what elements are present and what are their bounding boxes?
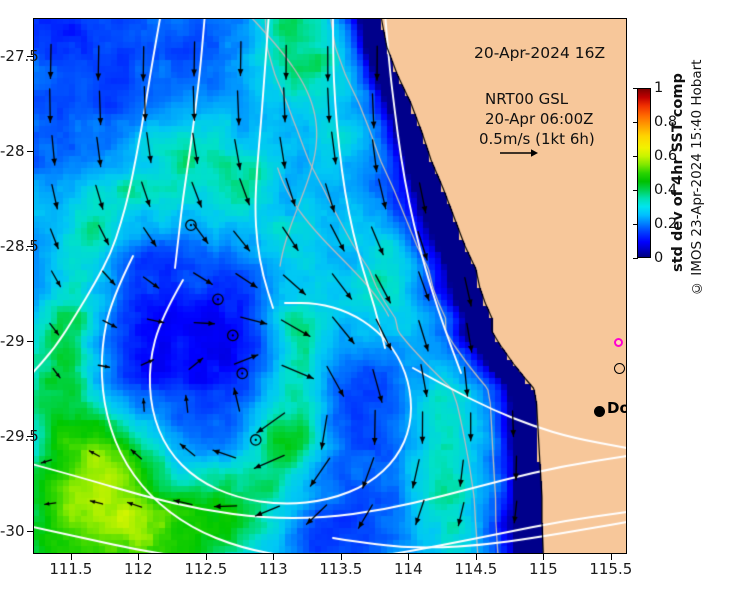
x-tick-label: 111.5 [49,560,92,578]
annotation-product: NRT00 GSL [485,90,568,108]
colorbar-tick [633,88,638,89]
legend-item-ship: Ship [614,359,627,377]
x-tick-label: 113 [259,560,288,578]
annotation-datetime: 20-Apr-2024 16Z [474,44,605,62]
x-tick-label: 115.5 [589,560,632,578]
colorbar-title: std dev of 4hr SST comp [668,88,688,258]
dongara-label: Dongara [607,399,627,417]
colorbar-tick [633,190,638,191]
x-tick-label: 114 [394,560,423,578]
x-tick-label: 113.5 [319,560,362,578]
argo-marker-icon [614,338,623,347]
colorbar-tick-label: 0 [654,250,663,266]
colorbar[interactable] [637,88,651,258]
ship-marker-icon [614,363,625,374]
x-tick-label: 112.5 [184,560,227,578]
y-tick-label: -29 [0,332,22,350]
annotation-product-time: 20-Apr 06:00Z [485,110,593,128]
figure-canvas: 20-Apr-2024 16Z NRT00 GSL 20-Apr 06:00Z … [0,0,740,592]
colorbar-tick [633,224,638,225]
y-tick-label: -28.5 [0,237,22,255]
map-plot-area[interactable]: 20-Apr-2024 16Z NRT00 GSL 20-Apr 06:00Z … [33,18,627,554]
y-tick-label: -28 [0,142,22,160]
reference-vector-arrow [499,146,539,160]
dongara-marker [594,406,605,417]
x-tick-label: 115 [529,560,558,578]
y-tick [27,341,33,342]
y-tick-label: -27.5 [0,47,22,65]
x-tick-label: 112 [124,560,153,578]
y-tick-label: -30 [0,522,22,540]
x-tick-label: 114.5 [454,560,497,578]
colorbar-tick-label: 1 [654,80,663,96]
colorbar-tick [633,122,638,123]
colorbar-tick [633,258,638,259]
y-tick-label: -29.5 [0,427,22,445]
colorbar-tick [633,156,638,157]
legend-item-argo: Argo [614,333,627,351]
y-tick [27,531,33,532]
y-tick [27,151,33,152]
